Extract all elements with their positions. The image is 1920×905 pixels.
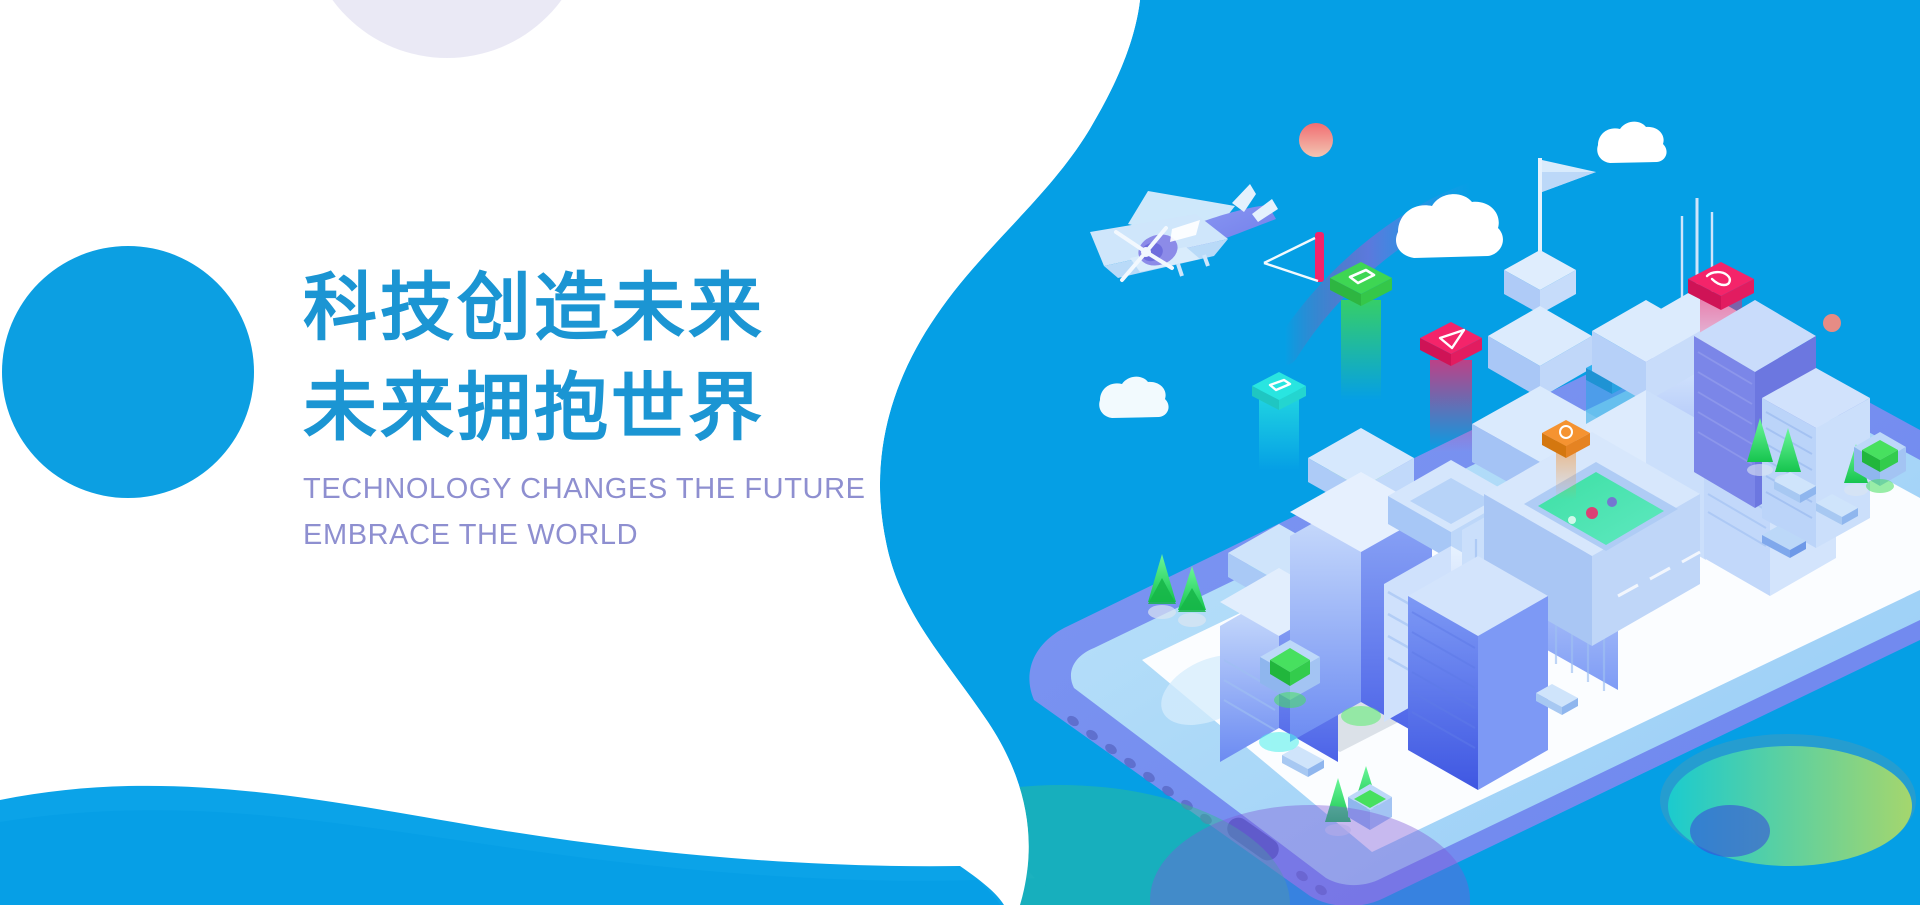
subheadline-line-2: EMBRACE THE WORLD <box>303 512 1063 558</box>
decor-blob-teal <box>1660 734 1916 866</box>
hero-banner: 科技创造未来 未来拥抱世界 TECHNOLOGY CHANGES THE FUT… <box>0 0 1920 905</box>
headline: 科技创造未来 未来拥抱世界 <box>303 258 1023 458</box>
headline-line-2: 未来拥抱世界 <box>303 358 1023 458</box>
decor-circle-blue-left <box>2 246 254 498</box>
headline-line-1: 科技创造未来 <box>303 258 1023 358</box>
decor-dot-salmon <box>1823 314 1841 332</box>
plane-banner-flag <box>1315 232 1324 282</box>
decor-dot-coral <box>1299 123 1333 157</box>
subheadline-line-1: TECHNOLOGY CHANGES THE FUTURE <box>303 466 1063 512</box>
subheadline: TECHNOLOGY CHANGES THE FUTURE EMBRACE TH… <box>303 466 1063 558</box>
